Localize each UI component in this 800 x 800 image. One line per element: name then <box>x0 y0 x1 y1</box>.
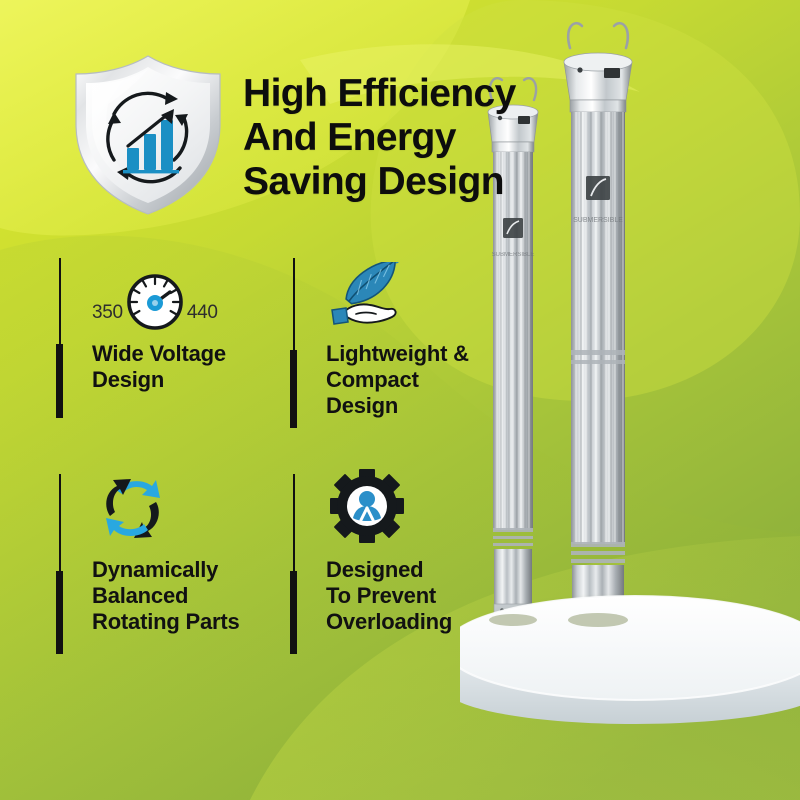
feature-title-line: Compact <box>326 367 520 393</box>
feature-title-line: Dynamically <box>92 557 296 583</box>
feature-title-line: Overloading <box>326 609 520 635</box>
rotating-arrows-icon <box>92 468 176 548</box>
feature-divider <box>56 474 63 654</box>
feature-title-line: Rotating Parts <box>92 609 296 635</box>
feature-divider <box>56 258 63 418</box>
feature-title: Dynamically Balanced Rotating Parts <box>92 557 296 635</box>
feature-title-line: Wide Voltage <box>92 341 286 367</box>
feature-title-line: Balanced <box>92 583 296 609</box>
feature-title: Lightweight & Compact Design <box>326 341 520 419</box>
headline-line-2: And Energy <box>243 116 516 160</box>
feature-title-line: Designed <box>326 557 520 583</box>
feature-title-line: Lightweight & <box>326 341 520 367</box>
feature-title-line: To Prevent <box>326 583 520 609</box>
feature-title-line: Design <box>92 367 286 393</box>
feature-lightweight-compact: Lightweight & Compact Design <box>290 258 520 428</box>
headline-line-1: High Efficiency <box>243 72 516 116</box>
voltage-gauge-icon <box>125 272 185 332</box>
feature-title: Wide Voltage Design <box>92 341 286 393</box>
feature-wide-voltage: 350 <box>56 258 286 418</box>
feature-dynamically-balanced: Dynamically Balanced Rotating Parts <box>56 474 296 654</box>
feather-on-hand-icon <box>326 262 412 332</box>
feature-prevent-overloading: Designed To Prevent Overloading <box>290 474 520 654</box>
headline-line-3: Saving Design <box>243 160 516 204</box>
gear-person-icon <box>326 468 408 548</box>
voltage-min-value: 350 <box>92 302 123 324</box>
feature-title-line: Design <box>326 393 520 419</box>
page-title: High Efficiency And Energy Saving Design <box>243 72 516 204</box>
feature-title: Designed To Prevent Overloading <box>326 557 520 635</box>
svg-text:SUBMERSIBLE: SUBMERSIBLE <box>573 217 623 224</box>
shield-growth-chart-icon <box>62 52 234 218</box>
voltage-max-value: 440 <box>187 302 218 324</box>
pump-tall: SUBMERSIBLE <box>564 23 632 622</box>
feature-divider <box>290 258 297 428</box>
feature-divider <box>290 474 297 654</box>
